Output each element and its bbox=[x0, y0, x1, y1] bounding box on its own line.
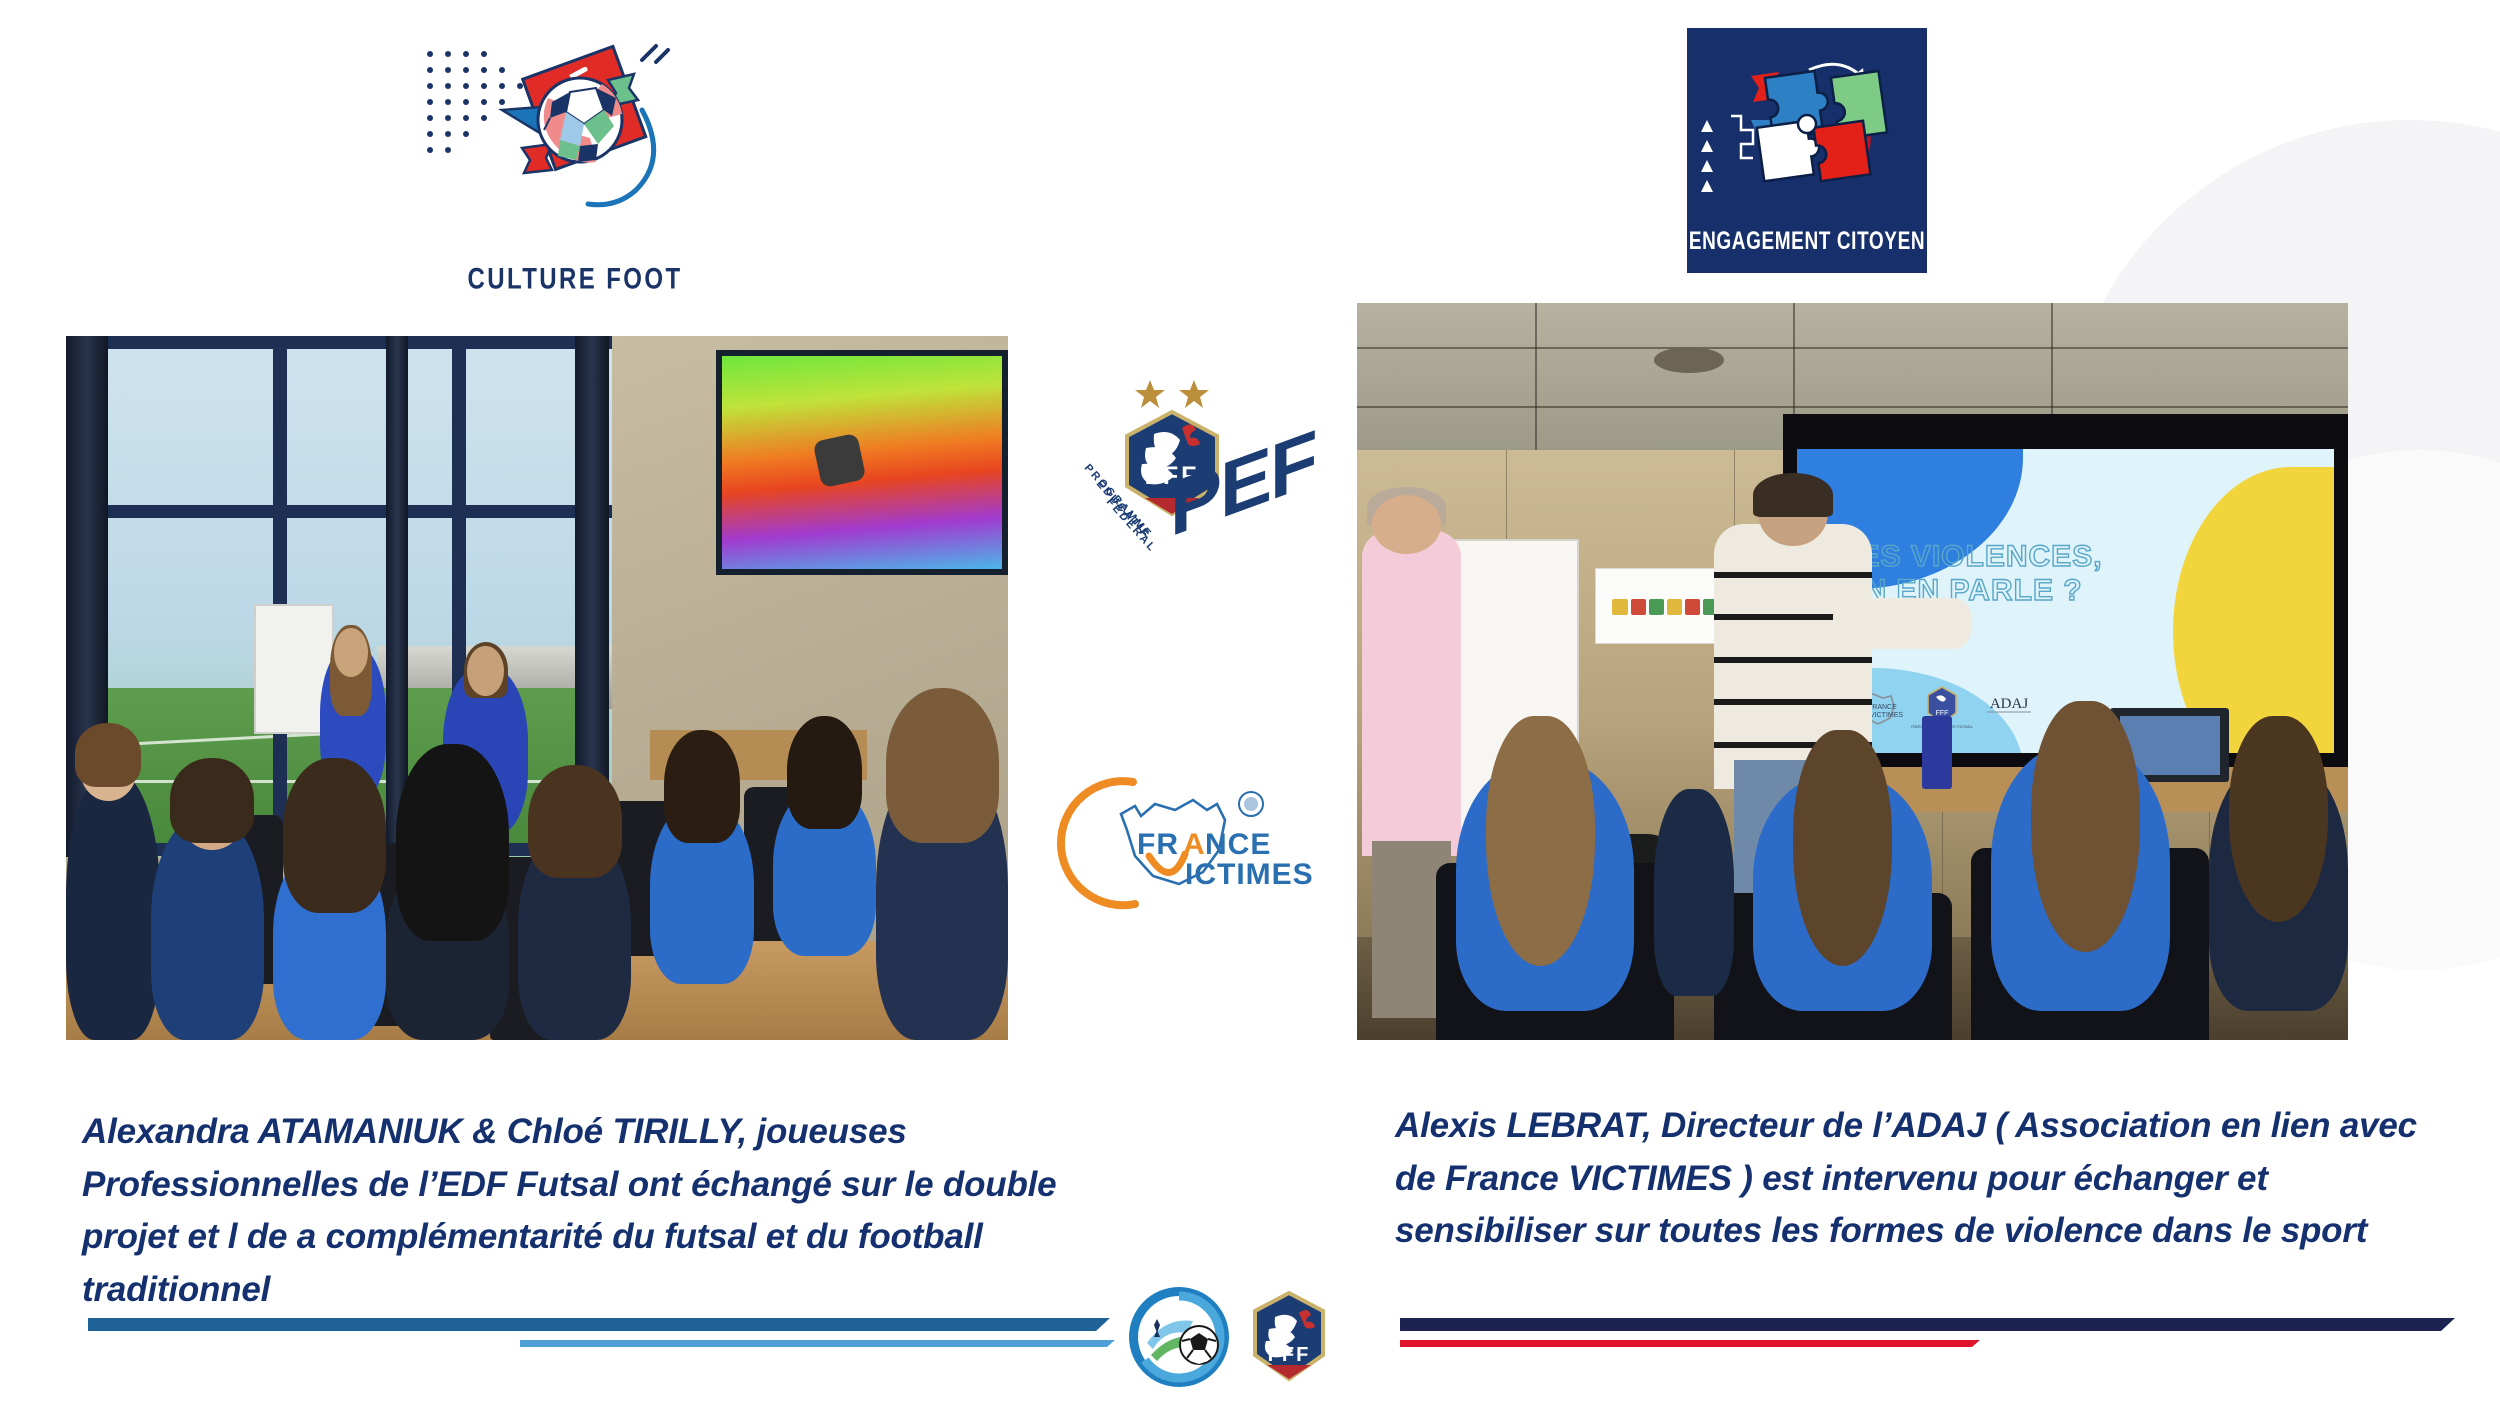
engagement-citoyen-logo: ENGAGEMENT CITOYEN bbox=[1687, 28, 1927, 273]
league-circle-ball-icon bbox=[1127, 1285, 1231, 1389]
divider-bar-left-secondary bbox=[520, 1340, 1115, 1347]
divider-bar-right-secondary bbox=[1400, 1340, 1980, 1347]
svg-text:FÉDÉRAL: FÉDÉRAL bbox=[1104, 495, 1160, 555]
footer-logos: FFF bbox=[1127, 1278, 1387, 1396]
divider-bar-right-primary bbox=[1400, 1318, 2455, 1331]
svg-text:ADAJ: ADAJ bbox=[1990, 696, 2028, 712]
slide-canvas: CULTURE FOOT bbox=[0, 0, 2500, 1406]
svg-text:FFF: FFF bbox=[1268, 1344, 1311, 1366]
caption-left: Alexandra ATAMANIUK & Chloé TIRILLY, jou… bbox=[82, 1106, 1092, 1316]
divider-bar-left-primary bbox=[88, 1318, 1110, 1331]
projection-screen-left bbox=[716, 350, 1008, 575]
svg-text:FR: FR bbox=[1137, 828, 1179, 861]
pef-logo: FFF PROGRAMME ÉDUCATIF FÉDÉRAL PEF bbox=[1062, 368, 1302, 598]
france-victimes-icon: FR A NCE ICTIMES FRANCE VICTIMES bbox=[1075, 770, 1285, 915]
caption-right: Alexis LEBRAT, Directeur de l’ADAJ ( Ass… bbox=[1395, 1100, 2455, 1258]
adaj-icon: ADAJ bbox=[1981, 690, 2037, 724]
adaj-intervention-photo: LES VIOLENCES,ON EN PARLE ? FRANCE VICTI… bbox=[1357, 303, 2348, 1040]
futsal-players-classroom-photo bbox=[66, 336, 1008, 1040]
culture-foot-label: CULTURE FOOT bbox=[420, 262, 730, 297]
pef-logo-icon: FFF PROGRAMME ÉDUCATIF FÉDÉRAL PEF bbox=[1062, 368, 1302, 598]
svg-text:VICTIMES: VICTIMES bbox=[1870, 712, 1903, 719]
fff-shield-rooster-icon: FFF bbox=[1249, 1289, 1329, 1385]
france-victimes-logo: FR A NCE ICTIMES FRANCE VICTIMES bbox=[1075, 770, 1285, 915]
puzzle-pieces-icon bbox=[1687, 28, 1927, 228]
svg-text:NCE: NCE bbox=[1205, 828, 1271, 861]
culture-foot-ball-icon bbox=[420, 18, 730, 248]
culture-foot-logo: CULTURE FOOT bbox=[420, 18, 730, 308]
engagement-citoyen-label: ENGAGEMENT CITOYEN bbox=[1687, 228, 1927, 257]
svg-text:ICTIMES: ICTIMES bbox=[1185, 858, 1314, 891]
